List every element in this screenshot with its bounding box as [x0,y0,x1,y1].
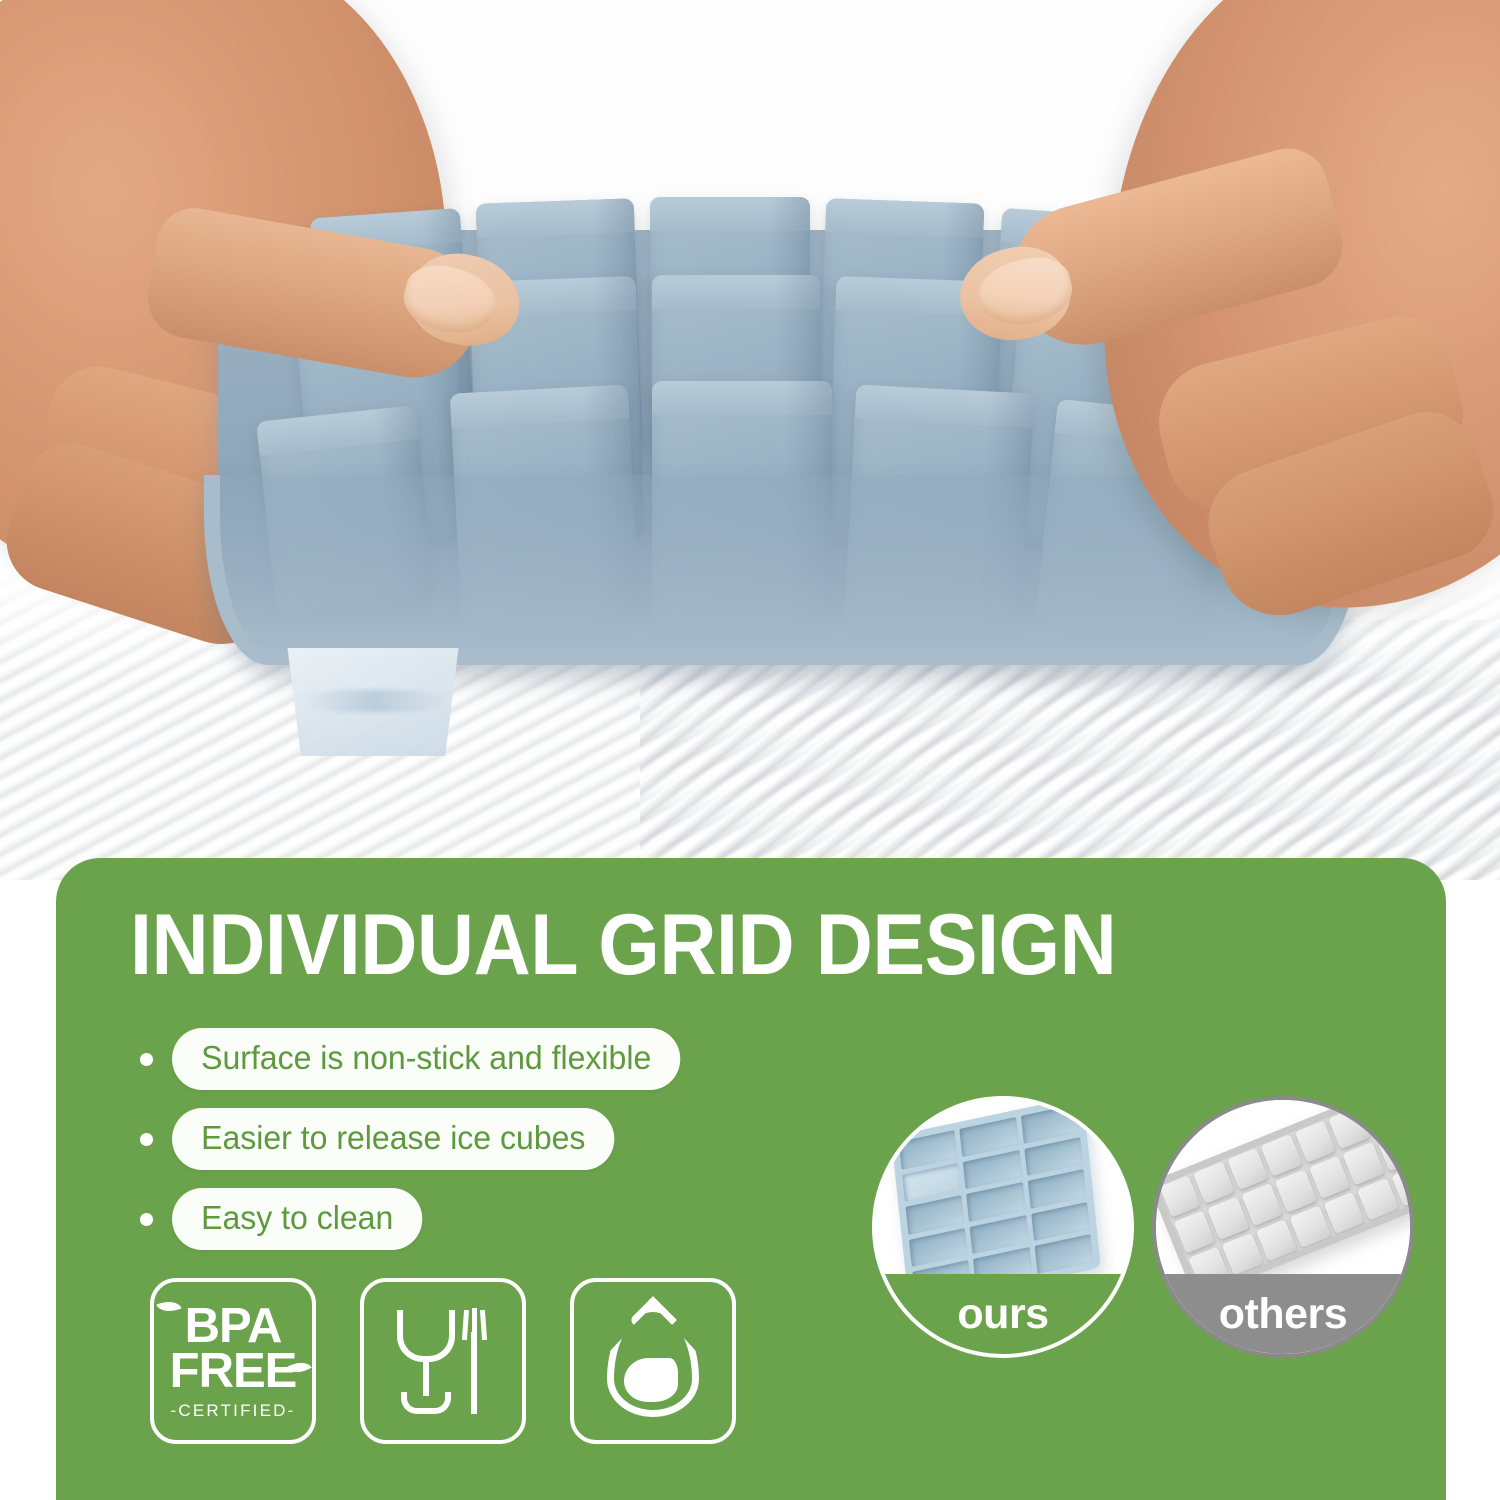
page-title: INDIVIDUAL GRID DESIGN [130,896,1116,995]
feature-pill: Surface is non-stick and flexible [172,1028,680,1090]
bullet-dot-icon [140,1133,153,1146]
feature-pill: Easy to clean [172,1188,422,1250]
bpa-free-badge: BPA FREE -CERTIFIED- [150,1278,316,1444]
water-droplet-icon [607,1305,699,1417]
others-label: others [1219,1290,1347,1339]
food-safe-badge [360,1278,526,1444]
bullet-dot-icon [140,1053,153,1066]
list-item: Surface is non-stick and flexible [140,1028,696,1090]
feature-panel: INDIVIDUAL GRID DESIGN Surface is non-st… [56,858,1446,1500]
leaf-icon [156,1296,181,1316]
feature-pill: Easier to release ice cubes [172,1108,615,1170]
product-infographic: INDIVIDUAL GRID DESIGN Surface is non-st… [0,0,1500,1500]
comparison-circles: ours others [872,1096,1414,1358]
glass-and-fork-icon [391,1306,495,1416]
list-item: Easy to clean [140,1188,696,1250]
bpa-certified-caption: -CERTIFIED- [171,1403,296,1419]
certification-badges: BPA FREE -CERTIFIED- [150,1278,736,1444]
ours-label-band: ours [876,1274,1130,1354]
bpa-label-line2: FREE [170,1349,297,1394]
water-droplet-badge [570,1278,736,1444]
ours-label: ours [957,1290,1048,1339]
bullet-dot-icon [140,1213,153,1226]
comparison-others: others [1152,1096,1414,1358]
comparison-ours: ours [872,1096,1134,1358]
bpa-label-line1: BPA [185,1304,282,1349]
product-photo [0,0,1500,880]
ice-cube-highlight [300,690,450,712]
others-tray-grid [1152,1096,1414,1300]
feature-bullet-list: Surface is non-stick and flexible Easier… [140,1028,696,1268]
others-label-band: others [1156,1274,1410,1354]
list-item: Easier to release ice cubes [140,1108,696,1170]
